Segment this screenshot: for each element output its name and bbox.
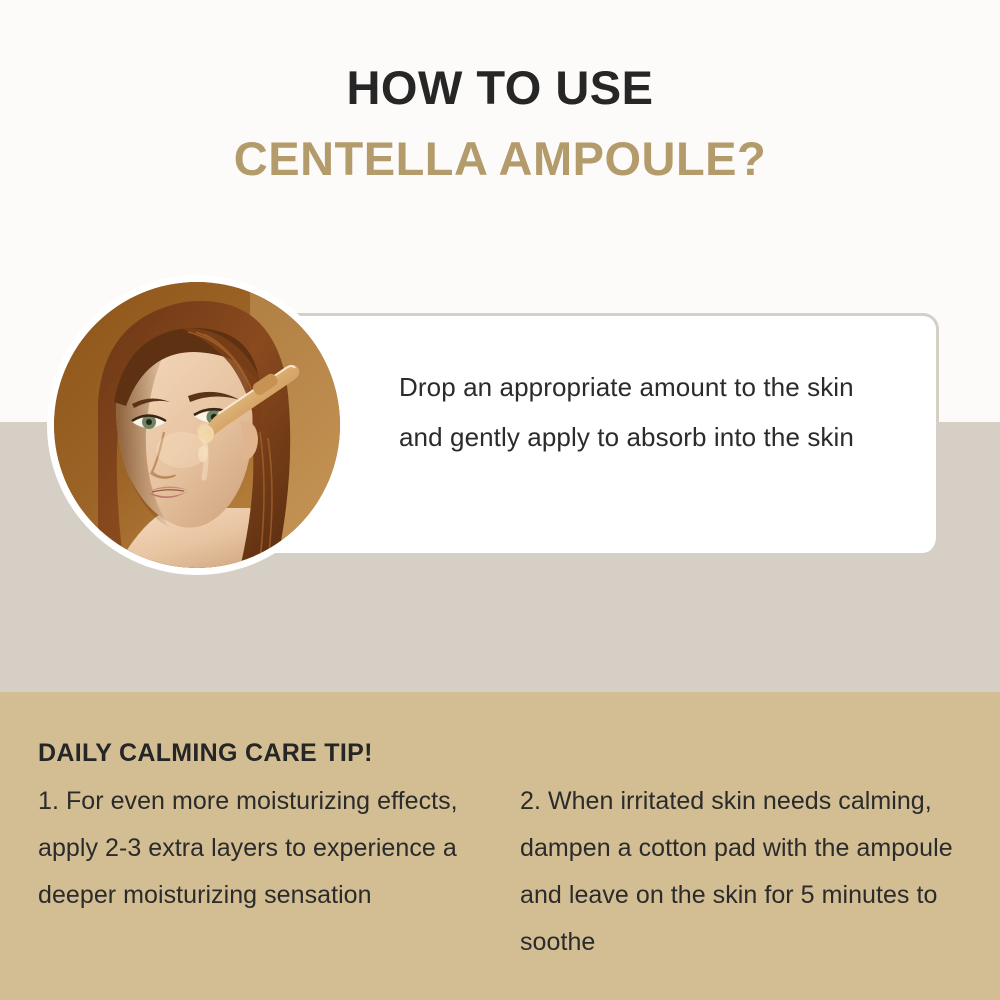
tip-item-2: 2. When irritated skin needs calming, da… xyxy=(520,778,980,966)
page-title-line-1: HOW TO USE xyxy=(0,60,1000,115)
tips-title: DAILY CALMING CARE TIP! xyxy=(38,739,373,768)
page-title-line-2: CENTELLA AMPOULE? xyxy=(0,131,1000,186)
product-usage-photo xyxy=(54,282,340,568)
tip-item-1: 1. For even more moisturizing effects, a… xyxy=(38,778,503,919)
daily-care-tips-section: DAILY CALMING CARE TIP! 1. For even more… xyxy=(0,692,1000,1000)
page-title: HOW TO USE CENTELLA AMPOULE? xyxy=(0,60,1000,187)
instruction-text: Drop an appropriate amount to the skin a… xyxy=(399,362,899,462)
model-applying-serum-illustration xyxy=(54,282,340,568)
how-to-use-poster: HOW TO USE CENTELLA AMPOULE? Drop an app… xyxy=(0,0,1000,1000)
